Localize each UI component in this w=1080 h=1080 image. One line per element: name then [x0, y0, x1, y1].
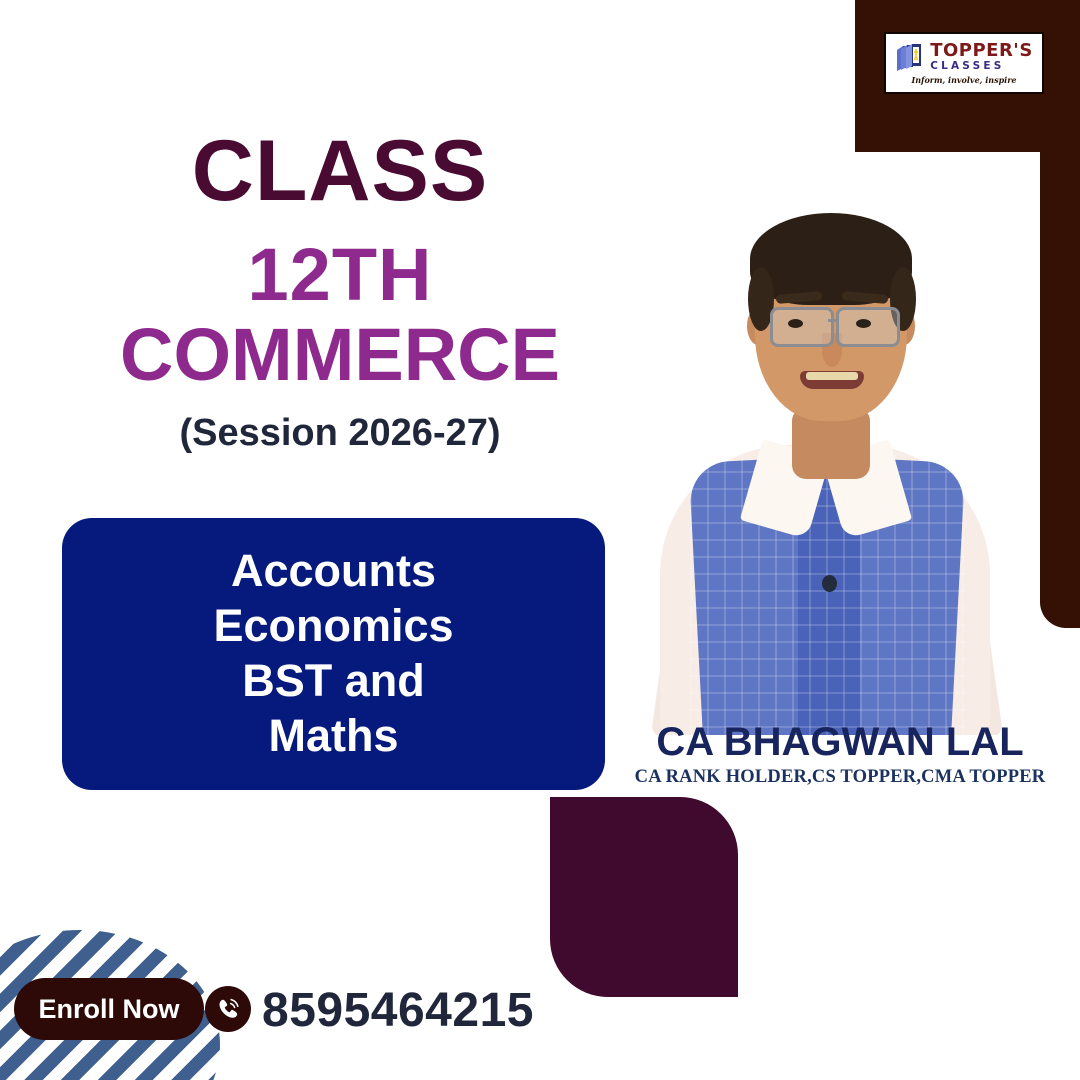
phone-ringing-icon: [205, 986, 251, 1032]
headline-session: (Session 2026-27): [60, 414, 620, 452]
presenter-name: CA BHAGWAN LAL: [620, 722, 1060, 762]
subject-line-1: Accounts: [231, 544, 436, 599]
enroll-now-button[interactable]: Enroll Now: [14, 978, 204, 1040]
presenter-credentials: CA RANK HOLDER,CS TOPPER,CMA TOPPER: [620, 768, 1060, 787]
stacked-books-icon: [895, 42, 925, 72]
headline-stream: COMMERCE: [60, 318, 620, 392]
logo-tagline: Inform, involve, inspire: [911, 75, 1016, 85]
subjects-card: Accounts Economics BST and Maths: [62, 518, 605, 790]
enroll-now-label: Enroll Now: [39, 994, 180, 1025]
photo-vest-button: [822, 575, 837, 592]
photo-eye-left: [788, 319, 803, 328]
brand-logo: TOPPER'S CLASSES Inform, involve, inspir…: [884, 32, 1044, 94]
headline-block: CLASS 12TH COMMERCE (Session 2026-27): [60, 128, 620, 452]
logo-secondary-text: CLASSES: [930, 61, 1033, 72]
photo-teeth: [806, 372, 858, 380]
right-maroon-strip: [1040, 150, 1080, 628]
headline-grade: 12TH: [60, 238, 620, 312]
promotional-poster: TOPPER'S CLASSES Inform, involve, inspir…: [0, 0, 1080, 1080]
subject-line-3: BST and: [242, 654, 425, 709]
plum-decor-block: [550, 797, 738, 997]
presenter-photo: [600, 175, 1040, 735]
photo-glasses-bridge: [828, 319, 838, 322]
presenter-name-block: CA BHAGWAN LAL CA RANK HOLDER,CS TOPPER,…: [620, 722, 1060, 787]
subject-line-4: Maths: [268, 709, 398, 764]
subject-line-2: Economics: [213, 599, 453, 654]
logo-primary-text: TOPPER'S: [930, 42, 1033, 60]
photo-glasses-left-lens: [770, 307, 834, 347]
photo-eye-right: [856, 319, 871, 328]
contact-phone-number[interactable]: 8595464215: [262, 983, 534, 1038]
headline-class: CLASS: [60, 128, 620, 214]
photo-hair: [750, 213, 912, 305]
